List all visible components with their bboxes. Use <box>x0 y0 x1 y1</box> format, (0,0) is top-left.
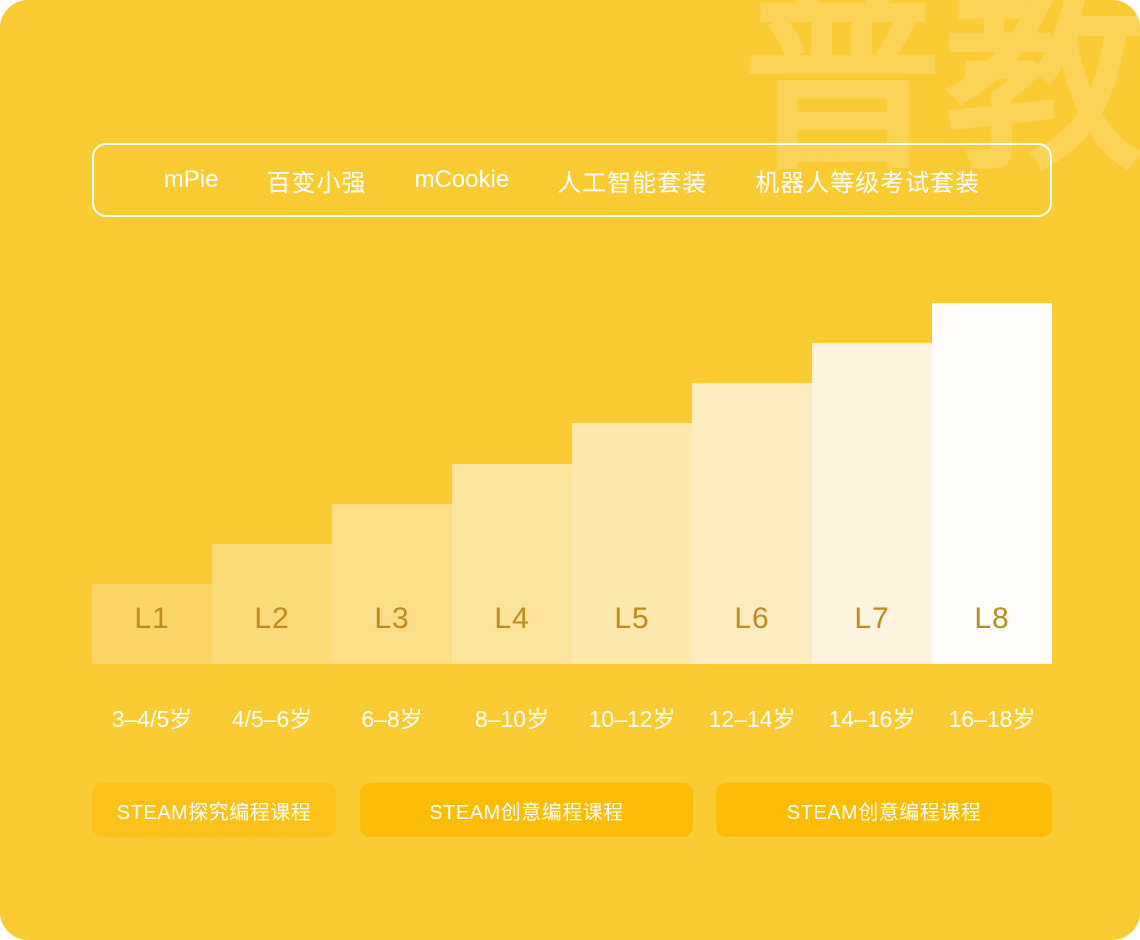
age-range-label: 6–8岁 <box>332 700 452 734</box>
course-button-steam-creative-1[interactable]: STEAM创意编程课程 <box>360 783 693 837</box>
age-range-label: 16–18岁 <box>932 700 1052 734</box>
tab-baibian[interactable]: 百变小强 <box>242 163 390 198</box>
age-range-label: 10–12岁 <box>572 700 692 734</box>
age-range-label: 3–4/5岁 <box>92 700 212 734</box>
course-button-label: STEAM创意编程课程 <box>787 796 981 825</box>
tab-mcookie[interactable]: mCookie <box>390 166 533 194</box>
bar[interactable]: L5 <box>572 423 692 664</box>
bar-level-label: L2 <box>254 604 289 664</box>
course-button-steam-inquiry[interactable]: STEAM探究编程课程 <box>92 783 336 837</box>
bar-column: L8 <box>932 280 1052 664</box>
bar-column: L7 <box>812 280 932 664</box>
bar[interactable]: L4 <box>452 464 572 664</box>
product-tab-bar: mPie 百变小强 mCookie 人工智能套装 机器人等级考试套装 <box>92 143 1052 217</box>
bar[interactable]: L6 <box>692 383 812 664</box>
bar[interactable]: L8 <box>932 303 1052 664</box>
bar-level-label: L1 <box>134 604 169 664</box>
bar[interactable]: L2 <box>212 544 332 664</box>
bar[interactable]: L3 <box>332 504 452 664</box>
bar-column: L1 <box>92 280 212 664</box>
bar[interactable]: L7 <box>812 343 932 664</box>
tab-ai-kit[interactable]: 人工智能套装 <box>533 163 731 198</box>
infographic-card: 普教 mPie 百变小强 mCookie 人工智能套装 机器人等级考试套装 L1… <box>0 0 1140 940</box>
bar-column: L3 <box>332 280 452 664</box>
bar-level-label: L6 <box>734 604 769 664</box>
bar-column: L2 <box>212 280 332 664</box>
tab-robot-exam[interactable]: 机器人等级考试套装 <box>731 163 1004 198</box>
tab-mpie[interactable]: mPie <box>140 166 243 194</box>
age-range-axis: 3–4/5岁4/5–6岁6–8岁8–10岁10–12岁12–14岁14–16岁1… <box>92 700 1052 734</box>
bar-column: L4 <box>452 280 572 664</box>
level-bar-chart: L1L2L3L4L5L6L7L8 <box>92 280 1052 664</box>
bar-column: L6 <box>692 280 812 664</box>
bar[interactable]: L1 <box>92 584 212 664</box>
bar-level-label: L5 <box>614 604 649 664</box>
course-button-group: STEAM探究编程课程 STEAM创意编程课程 STEAM创意编程课程 <box>92 783 1052 837</box>
age-range-label: 8–10岁 <box>452 700 572 734</box>
age-range-label: 12–14岁 <box>692 700 812 734</box>
bar-level-label: L4 <box>494 604 529 664</box>
course-button-label: STEAM探究编程课程 <box>117 796 311 825</box>
age-range-label: 14–16岁 <box>812 700 932 734</box>
bar-level-label: L3 <box>374 604 409 664</box>
course-button-label: STEAM创意编程课程 <box>429 796 623 825</box>
age-range-label: 4/5–6岁 <box>212 700 332 734</box>
bar-column: L5 <box>572 280 692 664</box>
course-button-steam-creative-2[interactable]: STEAM创意编程课程 <box>716 783 1052 837</box>
bar-level-label: L8 <box>974 604 1009 664</box>
bar-level-label: L7 <box>854 604 889 664</box>
